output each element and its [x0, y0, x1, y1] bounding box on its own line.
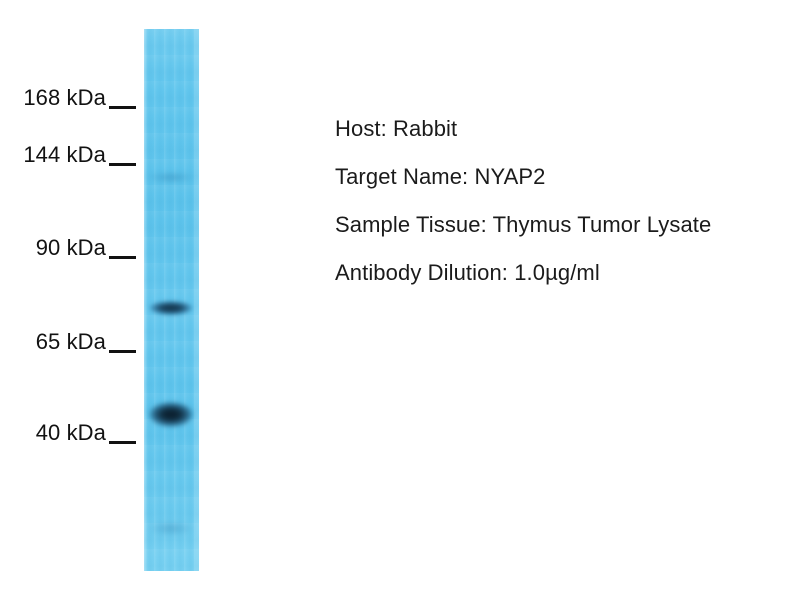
ladder-tick-40: [109, 441, 136, 444]
info-host: Host: Rabbit: [335, 105, 795, 153]
lane-texture: [144, 29, 199, 571]
band-faint-low: [150, 523, 192, 534]
ladder-marker-144: 144 kDa: [0, 140, 136, 170]
ladder-marker-90: 90 kDa: [0, 233, 136, 263]
band-faint-high: [149, 173, 193, 182]
western-blot-figure: 168 kDa 144 kDa 90 kDa 65 kDa 40 kDa H: [0, 0, 800, 600]
ladder-tick-144: [109, 163, 136, 166]
ladder-label-90: 90 kDa: [36, 237, 108, 259]
ladder-label-65: 65 kDa: [36, 331, 108, 353]
ladder-tick-65: [109, 350, 136, 353]
ladder-tick-90: [109, 256, 136, 259]
antibody-info-panel: Host: Rabbit Target Name: NYAP2 Sample T…: [335, 105, 795, 297]
gel-lane: [144, 29, 199, 571]
ladder-label-144: 144 kDa: [23, 144, 108, 166]
ladder-label-40: 40 kDa: [36, 422, 108, 444]
ladder-marker-40: 40 kDa: [0, 418, 136, 448]
info-target-name: Target Name: NYAP2: [335, 153, 795, 201]
info-sample-tissue: Sample Tissue: Thymus Tumor Lysate: [335, 201, 795, 249]
info-antibody-dilution: Antibody Dilution: 1.0µg/ml: [335, 249, 795, 297]
ladder-label-168: 168 kDa: [23, 87, 108, 109]
ladder-tick-168: [109, 106, 136, 109]
ladder-marker-65: 65 kDa: [0, 327, 136, 357]
band-medium-78kda: [150, 301, 192, 315]
band-strong-47kda: [149, 402, 193, 427]
ladder-marker-168: 168 kDa: [0, 83, 136, 113]
